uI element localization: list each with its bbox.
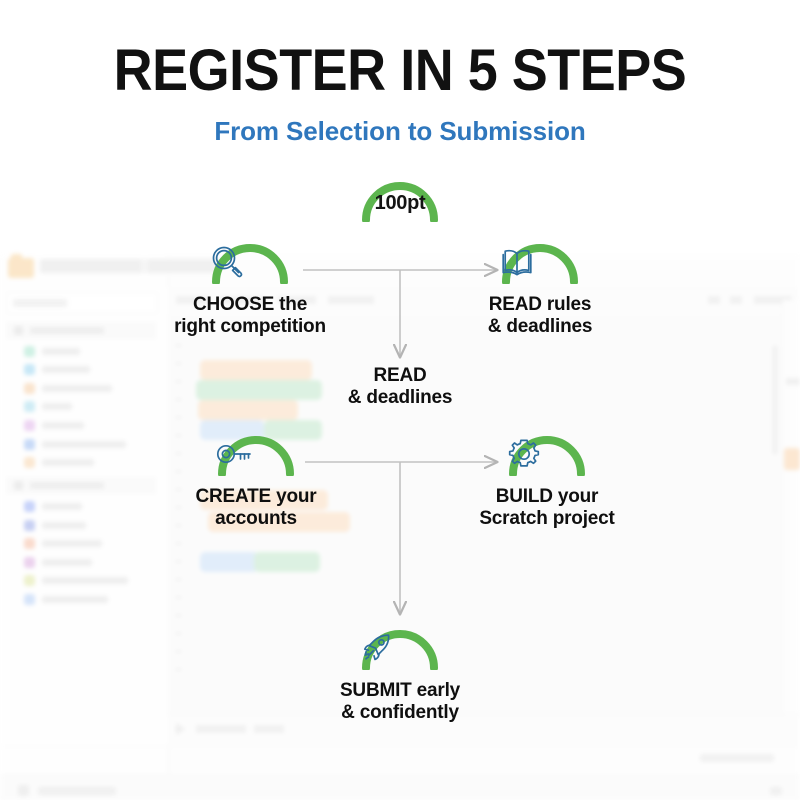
middle-note: READ & deadlines — [320, 365, 480, 410]
step-choose: CHOOSE the right competition — [170, 238, 330, 339]
score-badge: 100pt — [357, 176, 443, 222]
step-create-gauge — [213, 430, 299, 476]
step-submit-gauge — [357, 624, 443, 670]
page-title: REGISTER IN 5 STEPS — [28, 0, 772, 100]
open-book-icon — [497, 242, 583, 288]
infographic-canvas: REGISTER IN 5 STEPS From Selection to Su… — [0, 0, 800, 800]
header: REGISTER IN 5 STEPS From Selection to Su… — [0, 0, 800, 144]
step-submit: SUBMIT early & confidently — [320, 624, 480, 725]
step-read-gauge — [497, 238, 583, 284]
gauge-arc-icon: 100pt — [357, 176, 443, 222]
magnifier-icon — [207, 242, 293, 288]
page-subtitle: From Selection to Submission — [0, 100, 800, 144]
step-build-gauge — [504, 430, 590, 476]
step-submit-caption: SUBMIT early & confidently — [320, 680, 480, 725]
step-read-caption: READ rules & deadlines — [460, 294, 620, 339]
step-read: READ rules & deadlines — [460, 238, 620, 339]
step-build-caption: BUILD your Scratch project — [462, 486, 632, 531]
score-label: 100pt — [357, 192, 443, 215]
rocket-icon — [357, 628, 443, 674]
gear-icon — [504, 434, 590, 480]
step-build: BUILD your Scratch project — [462, 430, 632, 531]
step-choose-caption: CHOOSE the right competition — [170, 294, 330, 339]
step-create-caption: CREATE your accounts — [176, 486, 336, 531]
step-create: CREATE your accounts — [176, 430, 336, 531]
key-icon — [213, 434, 299, 480]
step-choose-gauge — [207, 238, 293, 284]
